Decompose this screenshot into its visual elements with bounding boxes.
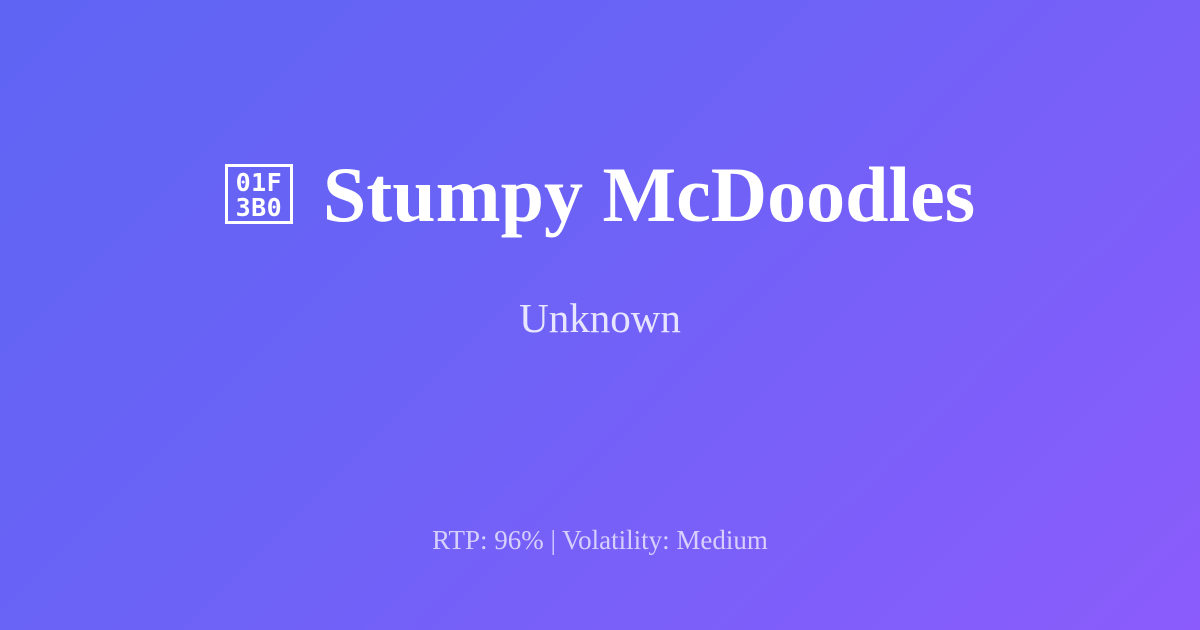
glyph-hex-top: 01F [236, 170, 283, 195]
title-row: 01F 3B0 Stumpy McDoodles [225, 155, 975, 235]
hero-block: 01F 3B0 Stumpy McDoodles Unknown [0, 0, 1200, 470]
page-title: Stumpy McDoodles [323, 155, 975, 235]
og-card: 01F 3B0 Stumpy McDoodles Unknown RTP: 96… [0, 0, 1200, 630]
slot-machine-emoji-icon: 01F 3B0 [225, 164, 293, 224]
page-subtitle: Unknown [519, 296, 681, 341]
glyph-hex-bottom: 3B0 [236, 195, 283, 220]
game-meta-line: RTP: 96% | Volatility: Medium [0, 526, 1200, 556]
